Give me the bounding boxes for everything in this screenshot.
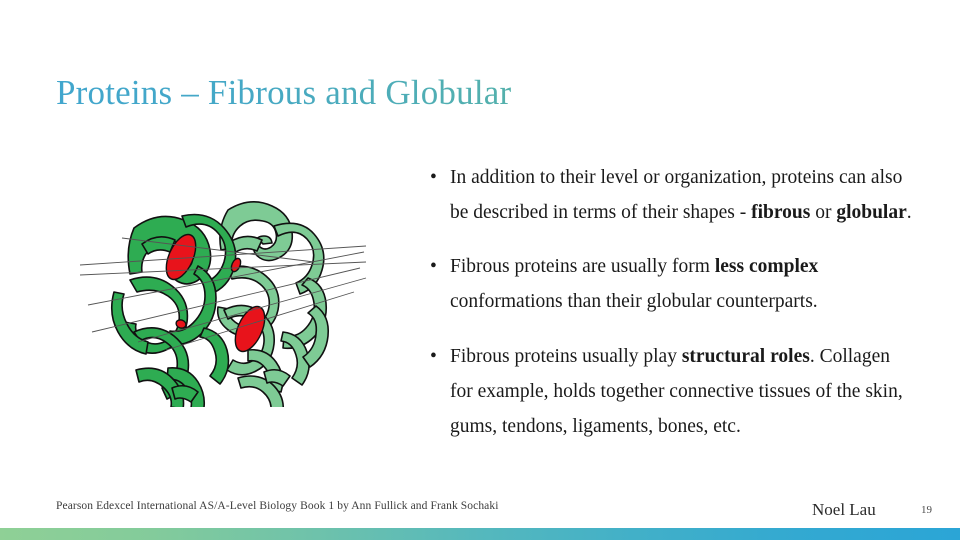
footer-citation: Pearson Edexcel International AS/A-Level… — [56, 500, 499, 512]
bullet-marker: • — [430, 249, 437, 284]
bullet-list: •In addition to their level or organizat… — [424, 140, 916, 444]
bullet-2-seg-1: less complex — [715, 256, 818, 277]
bullet-1-seg-4: . — [907, 202, 912, 223]
bullet-marker: • — [430, 160, 437, 195]
bullet-3-seg-1: structural roles — [682, 346, 810, 367]
bullet-2-seg-0: Fibrous proteins are usually form — [450, 256, 715, 277]
bullet-1-seg-2: or — [810, 202, 836, 223]
slide-canvas: Proteins – Fibrous and Globular — [0, 0, 960, 540]
bullet-2-seg-2: conformations than their globular counte… — [450, 291, 818, 312]
list-item: •Fibrous proteins are usually form less … — [424, 249, 916, 319]
bottom-accent-bar — [0, 528, 960, 540]
list-item: •In addition to their level or organizat… — [424, 160, 916, 230]
protein-ribbon-diagram — [78, 182, 368, 407]
list-item: •Fibrous proteins usually play structura… — [424, 339, 916, 444]
page-number: 19 — [921, 504, 932, 516]
footer-author: Noel Lau — [812, 500, 876, 520]
bullet-1-seg-1: fibrous — [751, 202, 810, 223]
bullet-marker: • — [430, 339, 437, 374]
bullet-1-seg-3: globular — [836, 202, 906, 223]
bullet-3-seg-0: Fibrous proteins usually play — [450, 346, 682, 367]
page-title: Proteins – Fibrous and Globular — [56, 71, 896, 115]
protein-ribbon-svg — [78, 182, 368, 407]
